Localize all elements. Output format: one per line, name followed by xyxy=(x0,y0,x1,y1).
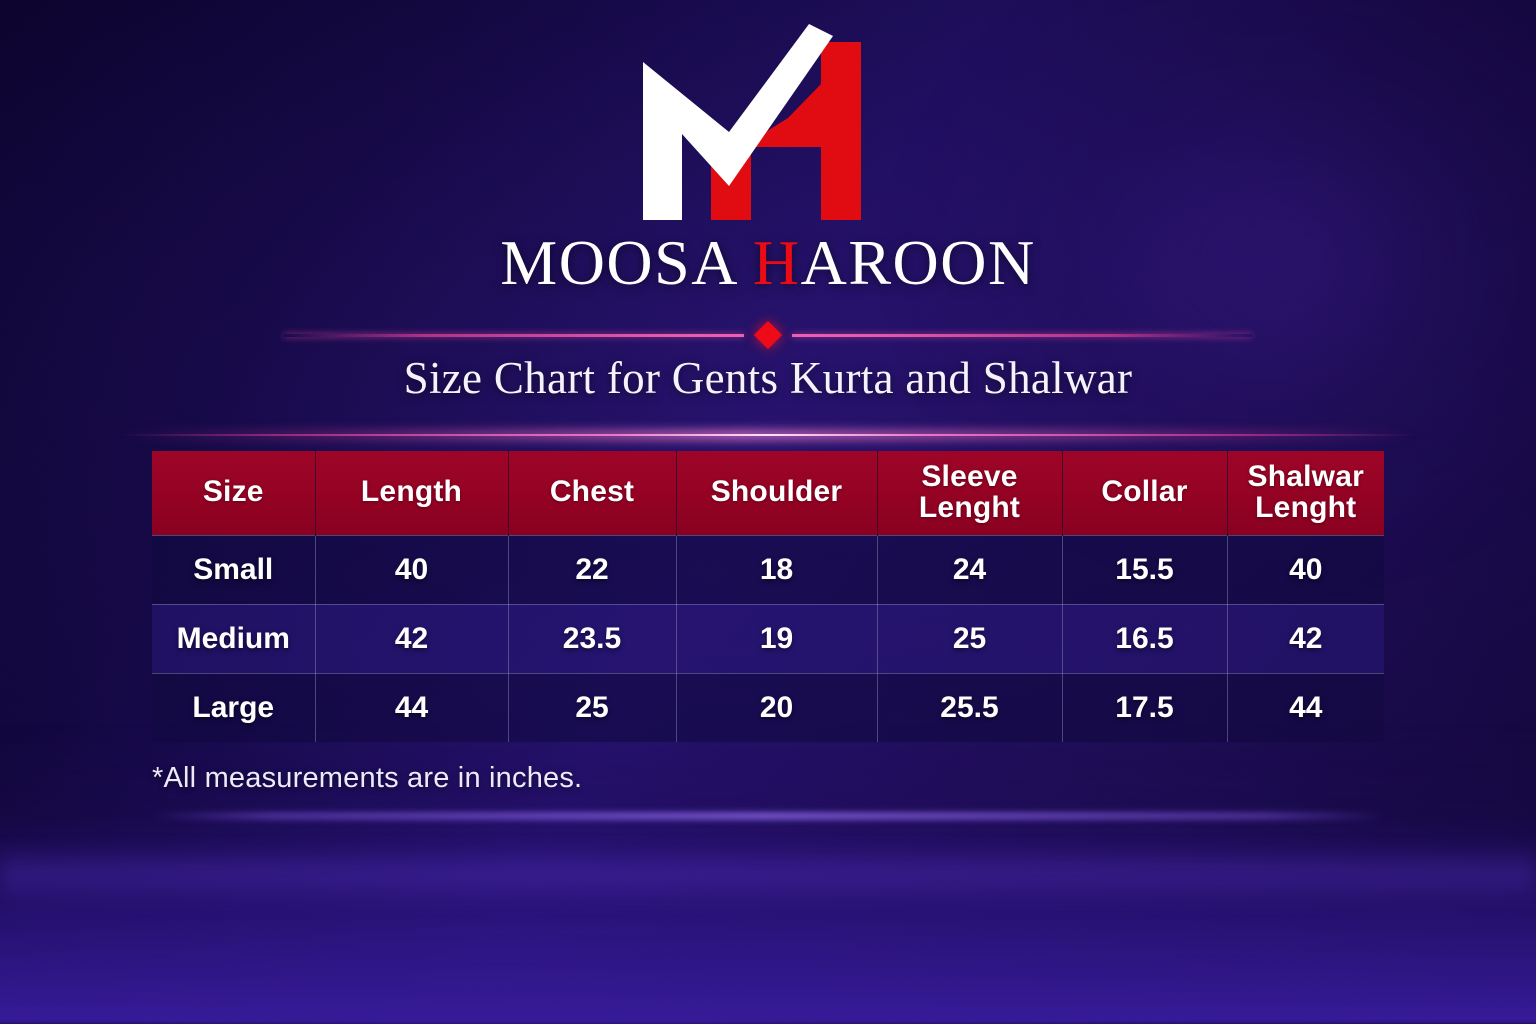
cell-shoulder: 20 xyxy=(676,673,877,742)
divider-line-right xyxy=(792,334,1252,337)
column-header-size: Size xyxy=(152,451,315,535)
size-chart-poster: MOOSA HAROON Size Chart for Gents Kurta … xyxy=(0,0,1536,1024)
cell-length: 44 xyxy=(315,673,508,742)
page-title: Size Chart for Gents Kurta and Shalwar xyxy=(0,352,1536,404)
column-header-chest: Chest xyxy=(508,451,676,535)
cell-shalwar-lenght: 40 xyxy=(1227,535,1384,604)
cell-size: Medium xyxy=(152,604,315,673)
column-header-shalwar-lenght: Shalwar Lenght xyxy=(1227,451,1384,535)
divider-line-left xyxy=(284,334,744,337)
cell-size: Small xyxy=(152,535,315,604)
table-header-row: Size Length Chest Shoulder Sleeve Lenght… xyxy=(152,451,1384,535)
glow-streak-core xyxy=(120,434,1416,436)
red-diamond-icon xyxy=(754,321,782,349)
table-row: Large 44 25 20 25.5 17.5 44 xyxy=(152,673,1384,742)
table-row: Small 40 22 18 24 15.5 40 xyxy=(152,535,1384,604)
brand-name: MOOSA HAROON xyxy=(0,226,1536,300)
lower-glow-band xyxy=(150,812,1386,820)
cell-collar: 17.5 xyxy=(1062,673,1227,742)
glow-streak-divider xyxy=(120,430,1416,440)
column-header-shoulder: Shoulder xyxy=(676,451,877,535)
cell-shalwar-lenght: 44 xyxy=(1227,673,1384,742)
brand-logo xyxy=(0,24,1536,224)
cell-collar: 15.5 xyxy=(1062,535,1227,604)
diamond-divider xyxy=(0,318,1536,352)
table-body: Small 40 22 18 24 15.5 40 Medium 42 23.5… xyxy=(152,535,1384,742)
cell-shoulder: 19 xyxy=(676,604,877,673)
column-header-length: Length xyxy=(315,451,508,535)
size-chart-table: Size Length Chest Shoulder Sleeve Lenght… xyxy=(152,451,1384,742)
cell-sleeve-lenght: 25.5 xyxy=(877,673,1062,742)
cell-sleeve-lenght: 25 xyxy=(877,604,1062,673)
cell-shalwar-lenght: 42 xyxy=(1227,604,1384,673)
cell-shoulder: 18 xyxy=(676,535,877,604)
measurement-units-note: *All measurements are in inches. xyxy=(152,762,582,795)
cell-length: 42 xyxy=(315,604,508,673)
table-row: Medium 42 23.5 19 25 16.5 42 xyxy=(152,604,1384,673)
mh-monogram-icon xyxy=(633,24,903,224)
brand-name-first: MOOSA xyxy=(500,227,753,298)
brand-name-rest: AROON xyxy=(801,227,1036,298)
column-header-sleeve-lenght: Sleeve Lenght xyxy=(877,451,1062,535)
cell-sleeve-lenght: 24 xyxy=(877,535,1062,604)
size-chart-table-wrapper: Size Length Chest Shoulder Sleeve Lenght… xyxy=(152,451,1384,742)
cell-chest: 25 xyxy=(508,673,676,742)
cell-length: 40 xyxy=(315,535,508,604)
table-header: Size Length Chest Shoulder Sleeve Lenght… xyxy=(152,451,1384,535)
cell-chest: 22 xyxy=(508,535,676,604)
brand-name-accent: H xyxy=(753,227,801,298)
cell-size: Large xyxy=(152,673,315,742)
cell-collar: 16.5 xyxy=(1062,604,1227,673)
cell-chest: 23.5 xyxy=(508,604,676,673)
column-header-collar: Collar xyxy=(1062,451,1227,535)
